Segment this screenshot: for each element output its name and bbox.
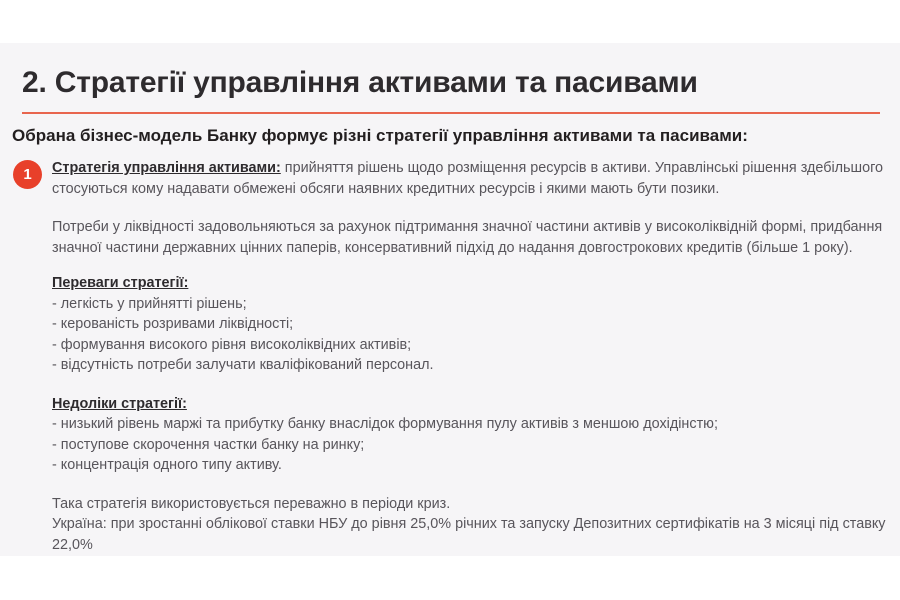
list-item: - формування високого рівня високоліквід…: [52, 335, 890, 356]
presentation-slide: 2. Стратегії управління активами та паси…: [0, 0, 900, 600]
liquidity-paragraph: Потреби у ліквідності задовольняються за…: [52, 217, 890, 258]
title-divider: [22, 112, 880, 114]
strategy-definition-paragraph: Стратегія управління активами: прийняття…: [52, 158, 890, 199]
slide-subtitle: Обрана бізнес-модель Банку формує різні …: [12, 126, 748, 146]
closing-line-1: Така стратегія використовується переважн…: [52, 494, 890, 515]
list-item: - концентрація одного типу активу.: [52, 455, 890, 476]
slide-title: 2. Стратегії управління активами та паси…: [22, 66, 698, 100]
spacer: [52, 258, 890, 273]
spacer: [52, 476, 890, 494]
strategy-term-label: Стратегія управління активами:: [52, 160, 281, 176]
spacer: [52, 199, 890, 217]
list-item: - відсутність потреби залучати кваліфіко…: [52, 355, 890, 376]
list-item: - керованість розривами ліквідності;: [52, 314, 890, 335]
spacer: [52, 376, 890, 394]
list-item: - поступове скорочення частки банку на р…: [52, 435, 890, 456]
bottom-letterbox-band: [0, 556, 900, 600]
list-item: - легкість у прийнятті рішень;: [52, 294, 890, 315]
list-number-badge: 1: [13, 160, 42, 189]
slide-body: Стратегія управління активами: прийняття…: [52, 158, 890, 576]
list-item: - низький рівень маржі та прибутку банку…: [52, 414, 890, 435]
advantages-heading: Переваги стратегії:: [52, 273, 890, 294]
top-letterbox-band: [0, 0, 900, 43]
closing-line-2: Україна: при зростанні облікової ставки …: [52, 514, 890, 555]
disadvantages-heading: Недоліки стратегії:: [52, 394, 890, 415]
